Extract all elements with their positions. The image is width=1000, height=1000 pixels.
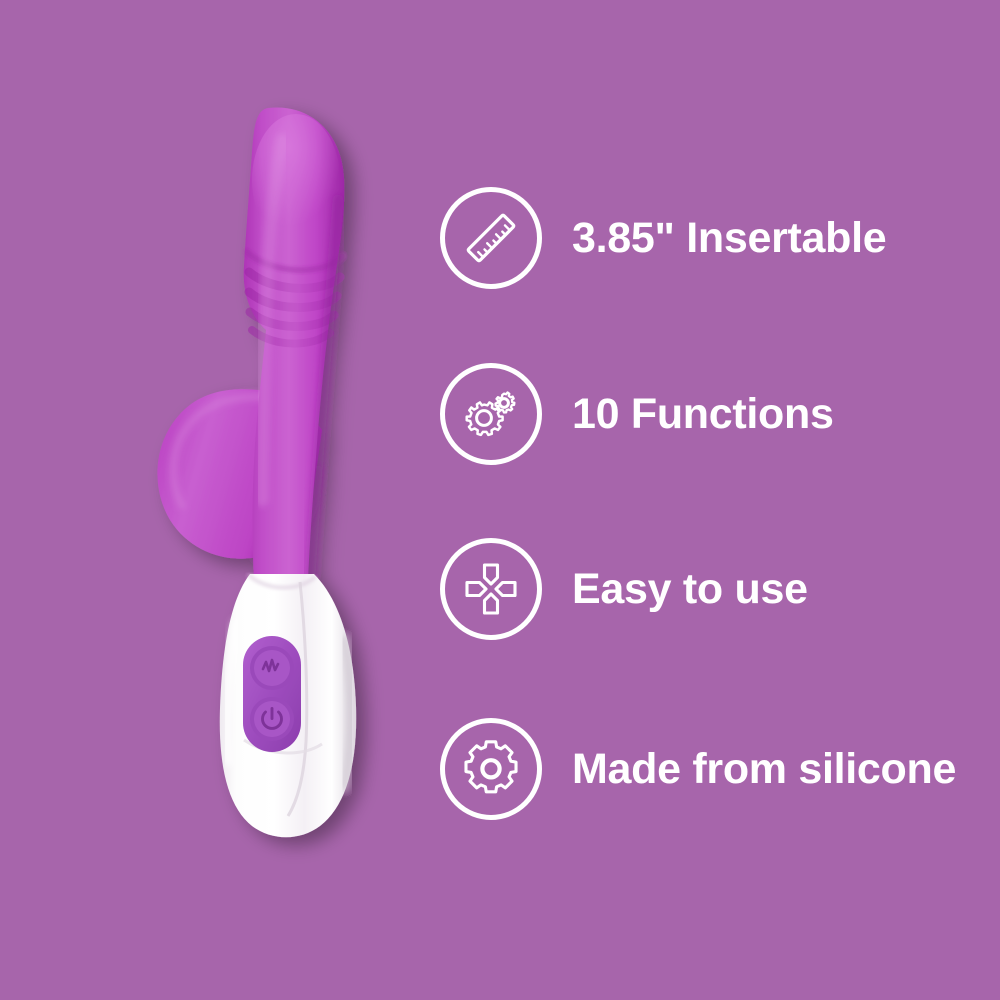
feature-label-easy-to-use: Easy to use xyxy=(572,568,808,611)
dpad-icon xyxy=(440,538,542,640)
gear-icon xyxy=(440,718,542,820)
product-feature-infographic: 3.85" Insertable 10 Function xyxy=(0,0,1000,1000)
gears-icon xyxy=(440,363,542,465)
feature-label-insertable: 3.85" Insertable xyxy=(572,217,886,260)
feature-label-functions: 10 Functions xyxy=(572,393,834,436)
feature-row-silicone: Made from silicone xyxy=(440,717,956,821)
power-button[interactable] xyxy=(250,697,294,741)
mode-button[interactable] xyxy=(250,646,294,690)
feature-row-functions: 10 Functions xyxy=(440,362,834,466)
product-image xyxy=(0,0,440,1000)
feature-row-insertable: 3.85" Insertable xyxy=(440,186,886,290)
product-illustration xyxy=(0,0,440,1000)
feature-label-silicone: Made from silicone xyxy=(572,748,956,791)
ruler-icon xyxy=(440,187,542,289)
feature-list: 3.85" Insertable 10 Function xyxy=(440,160,1000,860)
feature-row-easy-to-use: Easy to use xyxy=(440,537,808,641)
